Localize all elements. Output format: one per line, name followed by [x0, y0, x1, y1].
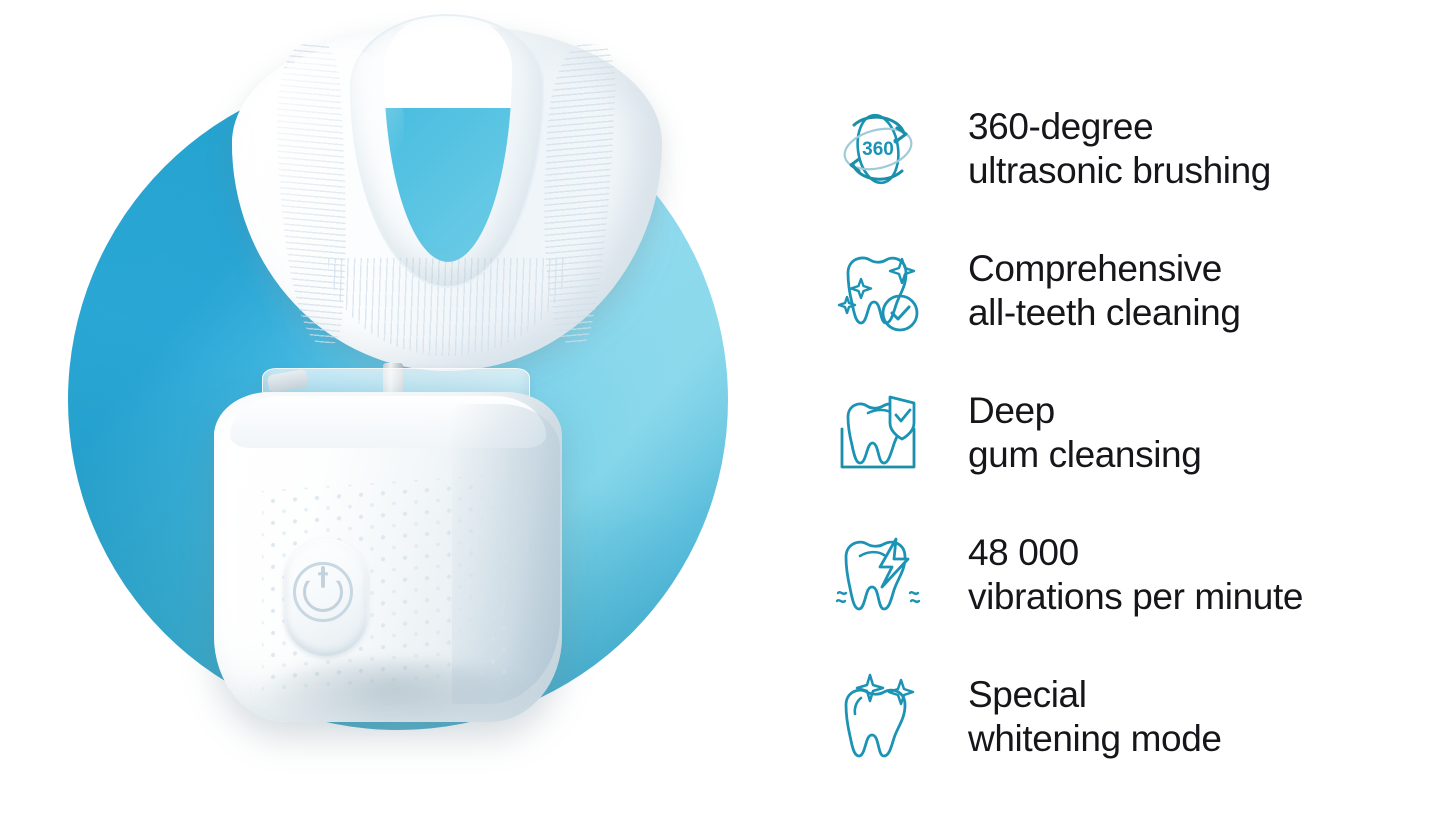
feature-item-360-degree: 360 360-degree ultrasonic brushing — [826, 78, 1426, 220]
u-shaped-brush-head — [232, 26, 662, 371]
tooth-vibration-bolt-icon — [826, 523, 930, 627]
feature-label: 48 000 vibrations per minute — [968, 531, 1303, 619]
feature-label: Deep gum cleansing — [968, 389, 1201, 477]
feature-item-whitening-mode: Special whitening mode — [826, 646, 1426, 788]
feature-label: Comprehensive all-teeth cleaning — [968, 247, 1241, 335]
product-feature-infographic: 360 360-degree ultrasonic brushing Compr… — [0, 0, 1445, 821]
power-icon-bar — [321, 566, 325, 588]
feature-label: Special whitening mode — [968, 673, 1222, 761]
feature-list: 360 360-degree ultrasonic brushing Compr… — [826, 78, 1426, 788]
feature-item-vibrations: 48 000 vibrations per minute — [826, 504, 1426, 646]
360-rotation-icon: 360 — [826, 97, 930, 201]
feature-item-comprehensive-cleaning: Comprehensive all-teeth cleaning — [826, 220, 1426, 362]
feature-item-gum-cleansing: Deep gum cleansing — [826, 362, 1426, 504]
tooth-gum-shield-icon — [826, 381, 930, 485]
svg-text:360: 360 — [862, 139, 894, 160]
feature-label: 360-degree ultrasonic brushing — [968, 105, 1271, 193]
tooth-whitening-sparkle-icon — [826, 665, 930, 769]
tooth-sparkle-check-icon — [826, 239, 930, 343]
product-image-panel — [0, 0, 790, 821]
handle-contact-shadow — [250, 660, 530, 730]
